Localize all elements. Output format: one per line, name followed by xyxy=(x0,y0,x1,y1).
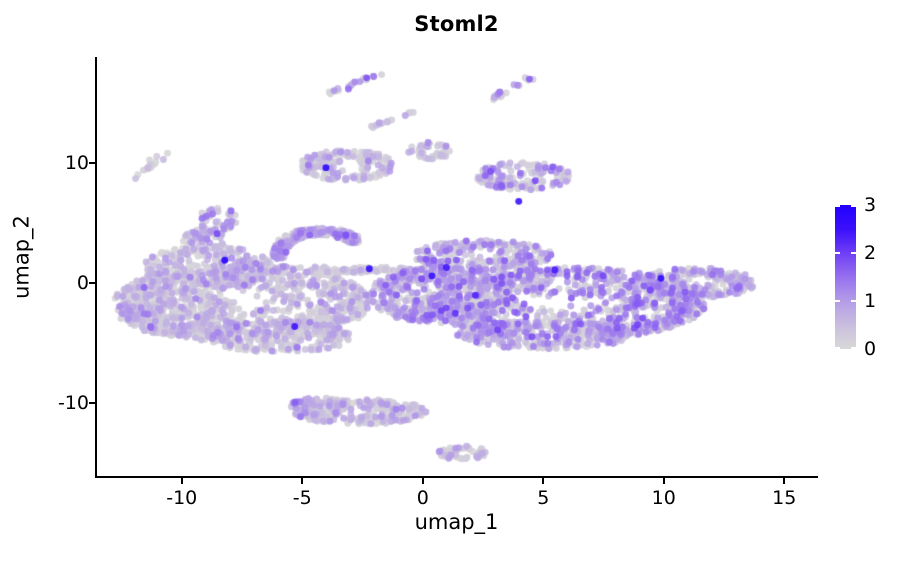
page-title: Stoml2 xyxy=(95,12,818,36)
x-tick-mark xyxy=(783,478,785,484)
x-tick-mark xyxy=(663,478,665,484)
colorbar-gradient xyxy=(835,205,856,349)
x-tick-label: -5 xyxy=(293,487,312,509)
colorbar-tick-mark xyxy=(835,252,840,254)
y-tick-label: 10 xyxy=(65,152,89,174)
x-tick-label: 0 xyxy=(417,487,429,509)
colorbar-tick-mark xyxy=(835,205,840,207)
y-tick-mark xyxy=(89,162,95,164)
colorbar-tick-mark xyxy=(851,252,856,254)
y-tick-label: -10 xyxy=(58,392,89,414)
x-tick-label: 10 xyxy=(652,487,676,509)
colorbar-tick-label: 2 xyxy=(864,242,876,264)
plot-area xyxy=(95,57,818,478)
x-tick-mark xyxy=(422,478,424,484)
colorbar-tick-mark xyxy=(851,205,856,207)
scatter-canvas xyxy=(97,57,820,478)
colorbar-tick-label: 0 xyxy=(864,338,876,360)
colorbar-tick-mark xyxy=(835,347,840,349)
x-axis-label: umap_1 xyxy=(95,510,818,534)
colorbar-tick-mark xyxy=(835,300,840,302)
x-tick-mark xyxy=(542,478,544,484)
y-tick-label: 0 xyxy=(77,272,89,294)
colorbar-tick-mark xyxy=(851,300,856,302)
y-tick-mark xyxy=(89,402,95,404)
x-tick-mark xyxy=(301,478,303,484)
x-tick-label: 15 xyxy=(772,487,796,509)
colorbar-tick-label: 1 xyxy=(864,290,876,312)
colorbar-tick-mark xyxy=(851,347,856,349)
x-tick-label: -10 xyxy=(166,487,197,509)
y-axis-label: umap_2 xyxy=(10,47,34,468)
colorbar xyxy=(835,205,856,349)
umap-feature-plot: Stoml2 -10-5051015100-10 umap_1 umap_2 0… xyxy=(0,0,911,562)
y-tick-mark xyxy=(89,282,95,284)
colorbar-tick-label: 3 xyxy=(864,194,876,216)
x-tick-mark xyxy=(181,478,183,484)
x-tick-label: 5 xyxy=(537,487,549,509)
